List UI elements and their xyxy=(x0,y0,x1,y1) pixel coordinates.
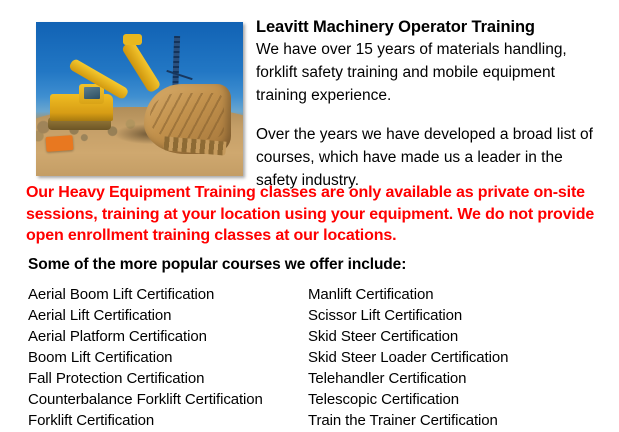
list-item: Train the Trainer Certification xyxy=(308,410,598,431)
list-item: Aerial Boom Lift Certification xyxy=(28,284,308,305)
excavator-photo xyxy=(36,22,243,176)
excavator-bucket-ribs xyxy=(150,93,225,139)
courses-heading: Some of the more popular courses we offe… xyxy=(28,256,406,274)
list-item: Counterbalance Forklift Certification xyxy=(28,389,308,410)
courses-column-left: Aerial Boom Lift Certification Aerial Li… xyxy=(28,284,308,431)
list-item: Fall Protection Certification xyxy=(28,368,308,389)
list-item: Skid Steer Loader Certification xyxy=(308,347,598,368)
list-item: Manlift Certification xyxy=(308,284,598,305)
courses-column-right: Manlift Certification Scissor Lift Certi… xyxy=(308,284,598,431)
excavator-stick xyxy=(123,34,142,45)
list-item: Boom Lift Certification xyxy=(28,347,308,368)
list-item: Telescopic Certification xyxy=(308,389,598,410)
intro-section: Leavitt Machinery Operator Training We h… xyxy=(0,0,619,178)
excavator-cab-window xyxy=(84,87,101,99)
list-item: Forklift Certification xyxy=(28,410,308,431)
intro-paragraph-1: We have over 15 years of materials handl… xyxy=(256,38,608,107)
excavator-photo-frame xyxy=(36,22,243,176)
private-training-notice: Our Heavy Equipment Training classes are… xyxy=(26,182,601,247)
excavator-boom-upper xyxy=(121,41,161,94)
intro-text-block: Leavitt Machinery Operator Training We h… xyxy=(256,16,608,192)
list-item: Aerial Platform Certification xyxy=(28,326,308,347)
orange-marker-box xyxy=(46,135,74,152)
courses-list: Aerial Boom Lift Certification Aerial Li… xyxy=(28,284,598,431)
list-item: Telehandler Certification xyxy=(308,368,598,389)
intro-heading: Leavitt Machinery Operator Training xyxy=(256,16,608,38)
background-crane-jib-icon xyxy=(167,70,193,80)
list-item: Scissor Lift Certification xyxy=(308,305,598,326)
list-item: Aerial Lift Certification xyxy=(28,305,308,326)
list-item: Skid Steer Certification xyxy=(308,326,598,347)
